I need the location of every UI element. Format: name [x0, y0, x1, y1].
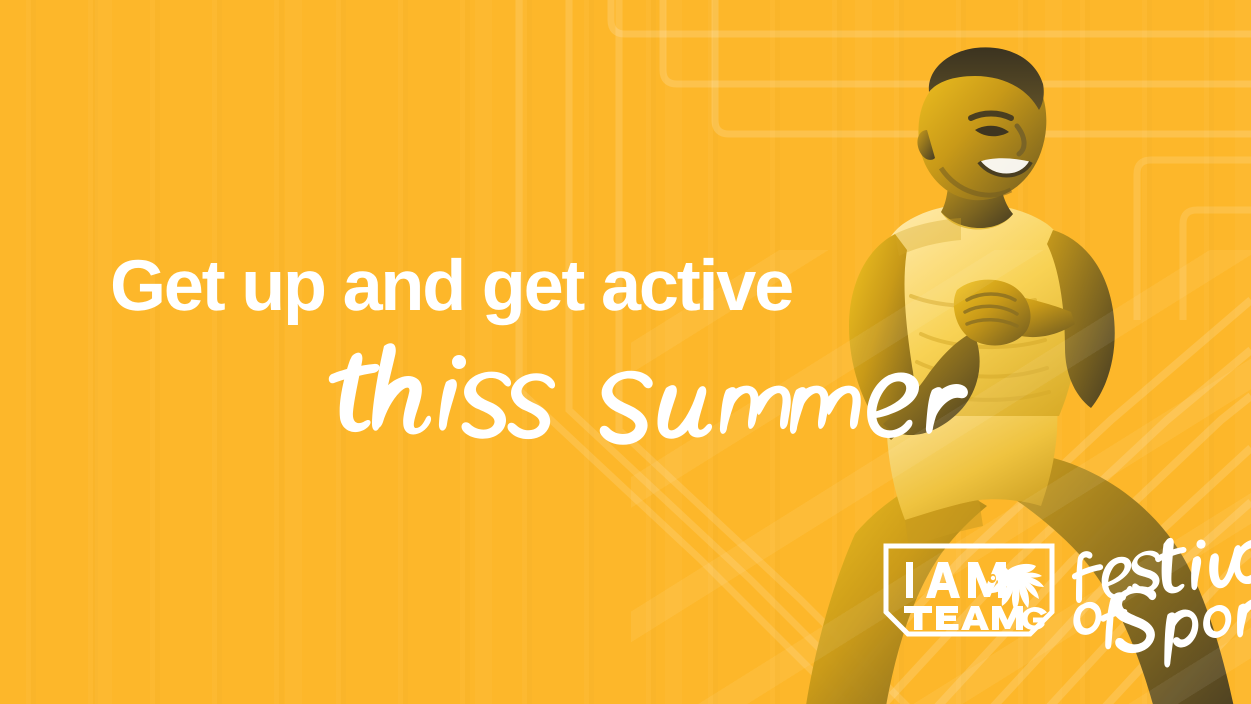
headline-line-1: Get up and get active: [110, 252, 1010, 320]
logo-lockup[interactable]: [880, 540, 1210, 648]
headline-line-2: this summer: [328, 338, 1028, 448]
headline-block: Get up and get active this summer: [110, 252, 1010, 320]
festival-of-sport-banner: Get up and get active this summer: [0, 0, 1251, 704]
